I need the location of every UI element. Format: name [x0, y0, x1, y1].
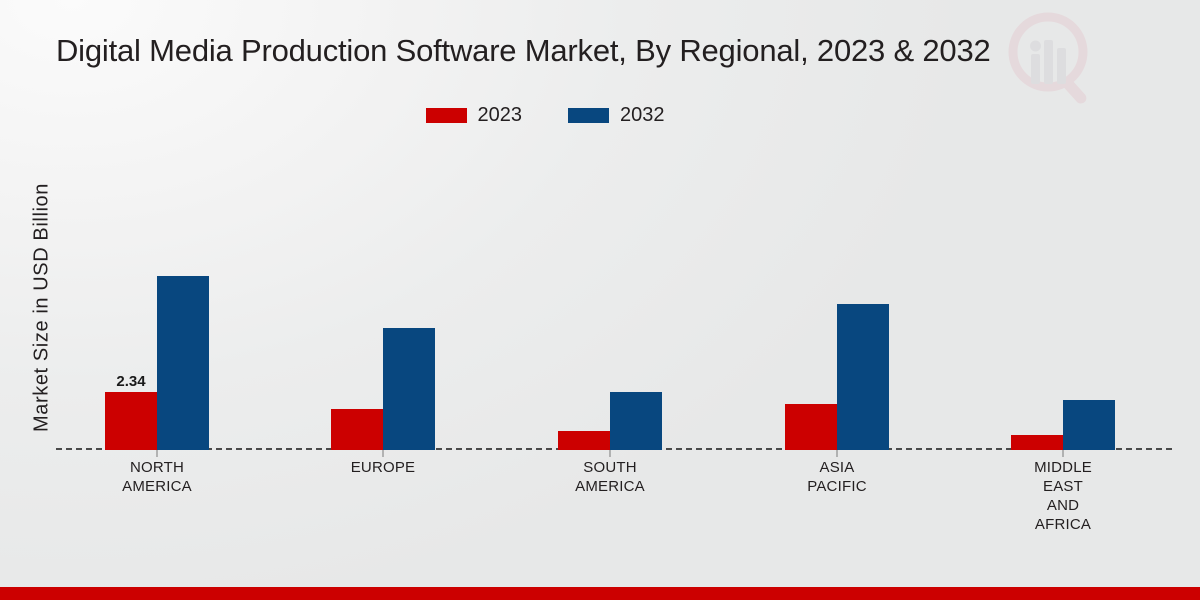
x-axis-label-asia-pacific: ASIA PACIFIC: [770, 458, 904, 496]
bar-group-south-america: SOUTH AMERICA: [555, 150, 665, 450]
bar-south-america-2023[interactable]: [558, 431, 610, 450]
x-axis-tick-asia-pacific: [837, 450, 838, 457]
x-axis-label-middle-east-and-africa: MIDDLE EAST AND AFRICA: [996, 458, 1130, 534]
legend-item-2032[interactable]: 2032: [568, 104, 665, 127]
label-line: EUROPE: [316, 458, 450, 477]
plot-area: 2.34 NORTH AMERICA EUROPE: [56, 150, 1156, 450]
bar-europe-2032[interactable]: [383, 328, 435, 450]
legend-swatch-2023: [426, 108, 467, 123]
bar-group-asia-pacific: ASIA PACIFIC: [782, 150, 892, 450]
bar-middle-east-and-africa-2023[interactable]: [1011, 435, 1063, 450]
bar-asia-pacific-2032[interactable]: [837, 304, 889, 450]
x-axis-tick-north-america: [157, 450, 158, 457]
bar-group-north-america: 2.34 NORTH AMERICA: [102, 150, 212, 450]
chart-canvas: Digital Media Production Software Market…: [0, 0, 1200, 600]
label-line: AFRICA: [996, 515, 1130, 534]
bar-north-america-2032[interactable]: [157, 276, 209, 450]
footer-accent-bar: [0, 587, 1200, 600]
x-axis-label-europe: EUROPE: [316, 458, 450, 477]
label-line: MIDDLE: [996, 458, 1130, 477]
bar-asia-pacific-2023[interactable]: [785, 404, 837, 450]
label-line: PACIFIC: [770, 477, 904, 496]
label-line: NORTH: [90, 458, 224, 477]
label-line: EAST: [996, 477, 1130, 496]
legend-swatch-2032: [568, 108, 609, 123]
label-line: SOUTH: [543, 458, 677, 477]
label-line: AND: [996, 496, 1130, 515]
chart-legend: 2023 2032: [0, 104, 1090, 127]
x-axis-label-south-america: SOUTH AMERICA: [543, 458, 677, 496]
bar-south-america-2032[interactable]: [610, 392, 662, 450]
x-axis-tick-middle-east-and-africa: [1063, 450, 1064, 457]
y-axis-title: Market Size in USD Billion: [31, 108, 54, 508]
bar-europe-2023[interactable]: [331, 409, 383, 450]
label-line: AMERICA: [90, 477, 224, 496]
bar-middle-east-and-africa-2032[interactable]: [1063, 400, 1115, 450]
label-line: ASIA: [770, 458, 904, 477]
x-axis-label-north-america: NORTH AMERICA: [90, 458, 224, 496]
x-axis-tick-europe: [383, 450, 384, 457]
bar-group-europe: EUROPE: [328, 150, 438, 450]
bar-group-middle-east-and-africa: MIDDLE EAST AND AFRICA: [1008, 150, 1118, 450]
legend-item-2023[interactable]: 2023: [426, 104, 523, 127]
legend-label-2032: 2032: [620, 104, 665, 127]
x-axis-tick-south-america: [610, 450, 611, 457]
label-line: AMERICA: [543, 477, 677, 496]
legend-label-2023: 2023: [478, 104, 523, 127]
chart-title: Digital Media Production Software Market…: [56, 33, 1106, 69]
bar-north-america-2023[interactable]: [105, 392, 157, 450]
data-label-north-america-2023: 2.34: [116, 373, 145, 390]
